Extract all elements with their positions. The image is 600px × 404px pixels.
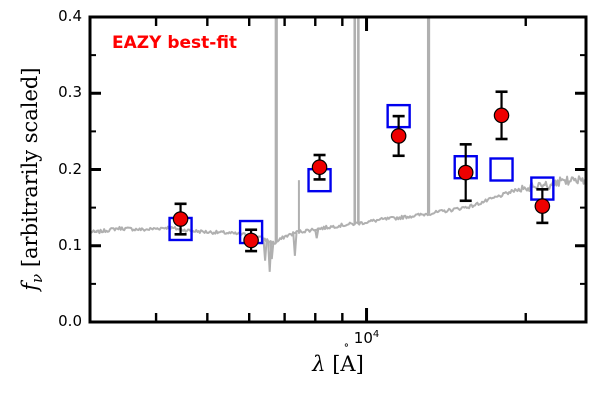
observed-photometry-point-6 bbox=[535, 189, 549, 223]
observed-photometry-marker-1 bbox=[244, 233, 258, 247]
y-tick-label-0: 0.0 bbox=[36, 312, 82, 330]
observed-photometry-marker-0 bbox=[173, 212, 187, 226]
observed-photometry-marker-4 bbox=[459, 165, 473, 179]
observed-photometry-marker-6 bbox=[535, 199, 549, 213]
sed-continuum-line bbox=[90, 176, 586, 244]
observed-photometry-group bbox=[173, 92, 549, 251]
sed-absorption-line-0 bbox=[264, 239, 267, 260]
observed-photometry-marker-5 bbox=[494, 108, 508, 122]
y-tick-label-2: 0.2 bbox=[36, 160, 82, 178]
model-photometry-square-5 bbox=[491, 159, 513, 181]
y-axis-label: fν [arbitrarily scaled] bbox=[18, 29, 46, 329]
y-tick-label-4: 0.4 bbox=[36, 7, 82, 25]
observed-photometry-marker-2 bbox=[312, 160, 326, 174]
figure-canvas: fν [arbitrarily scaled] λ [A˚] EAZY best… bbox=[0, 0, 600, 400]
y-tick-label-1: 0.1 bbox=[36, 236, 82, 254]
observed-photometry-point-3 bbox=[391, 116, 405, 156]
observed-photometry-point-5 bbox=[494, 92, 508, 139]
sed-absorption-line-3 bbox=[293, 233, 296, 256]
observed-photometry-point-1 bbox=[244, 230, 258, 251]
observed-photometry-point-2 bbox=[312, 155, 326, 179]
x-tick-label-0: 104 bbox=[337, 329, 397, 347]
y-tick-label-3: 0.3 bbox=[36, 83, 82, 101]
plot-svg bbox=[0, 0, 600, 400]
observed-photometry-point-4 bbox=[459, 144, 473, 200]
observed-photometry-marker-3 bbox=[391, 129, 405, 143]
annotation-eazy-best-fit: EAZY best-fit bbox=[112, 33, 237, 53]
x-axis-label: λ [A˚] bbox=[90, 352, 586, 376]
